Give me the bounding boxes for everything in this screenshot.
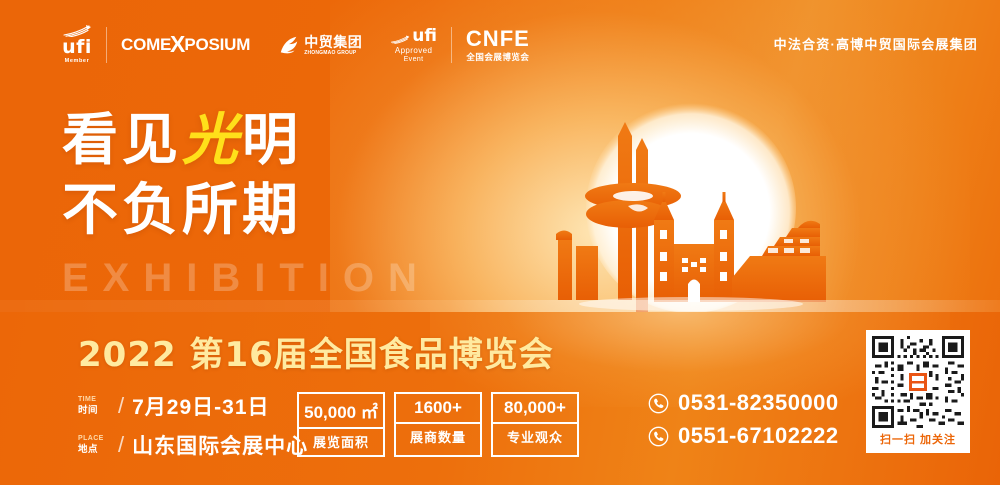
event-venue-value: 山东国际会展中心 (132, 430, 308, 460)
logo-ufi-approved: ufi Approved Event (376, 22, 451, 68)
comexposium-x-icon: X (170, 32, 185, 59)
partner-logo-strip: ufi Member COMEXPOSIUM 中贸集团 ZHONGMAO GRO… (48, 22, 544, 68)
info-row-place: PLACE 地点 / 山东国际会展中心 (78, 430, 308, 460)
qr-code-icon (872, 336, 964, 428)
cnfe-cn-name: 全国会展博览会 (466, 53, 529, 62)
time-separator: / (118, 393, 124, 419)
stat-exhibitors-label: 展商数量 (396, 422, 480, 450)
stat-area-label: 展览面积 (299, 427, 383, 455)
phone-icon (648, 426, 669, 447)
headline-accent-char: 光 (182, 108, 242, 173)
event-date-value: 7月29日-31日 (132, 391, 269, 421)
stat-exhibitors-value: 1600+ (414, 394, 462, 422)
stat-visitors-label: 专业观众 (493, 422, 577, 450)
stat-area-value: 50,000 ㎡ (304, 394, 378, 427)
logo-zhongmao-group: 中贸集团 ZHONGMAO GROUP (264, 22, 376, 68)
organizer-name: 中法合资·高博中贸国际会展集团 (774, 34, 978, 53)
qr-caption: 扫一扫 加关注 (872, 428, 964, 449)
hero-headline: 看见光明 不负所期 (62, 112, 302, 239)
logo-comexposium: COMEXPOSIUM (107, 22, 264, 68)
stat-visitors-value: 80,000+ (504, 394, 566, 422)
headline-line1-post: 明 (242, 108, 302, 173)
ufi-approved-sub2: Event (404, 56, 424, 63)
ufi-approved-swoosh-icon (390, 34, 410, 45)
logo-cnfe: CNFE 全国会展博览会 (452, 22, 544, 68)
comexposium-part1: COME (121, 35, 171, 55)
place-separator: / (118, 432, 124, 458)
headline-line1-pre: 看见 (62, 108, 182, 173)
ufi-approved-wordmark: ufi (412, 28, 437, 45)
time-label-en: TIME (78, 396, 110, 403)
qr-code-panel[interactable]: 扫一扫 加关注 (866, 330, 970, 453)
place-label-en: PLACE (78, 435, 110, 442)
logo-ufi-member: ufi Member (48, 22, 106, 68)
zhongmao-mark-icon (278, 34, 300, 56)
info-row-time: TIME 时间 / 7月29日-31日 (78, 391, 308, 421)
place-label-cn: 地点 (78, 445, 110, 455)
zhongmao-cn-name: 中贸集团 (304, 35, 362, 49)
ufi-member-wordmark: ufi (62, 38, 92, 57)
stat-box-exhibitors: 1600+ 展商数量 (394, 392, 482, 457)
comexposium-part2: POSIUM (184, 35, 250, 55)
ufi-member-subtext: Member (65, 59, 90, 65)
ufi-approved-sub1: Approved (395, 47, 432, 55)
contact-phone-group: 0531-82350000 0551-67102222 (648, 390, 839, 449)
phone-number-1: 0531-82350000 (678, 390, 839, 416)
event-title: 2022 第16届全国食品博览会 (78, 327, 554, 376)
zhongmao-en-name: ZHONGMAO GROUP (304, 51, 362, 56)
stat-box-area: 50,000 ㎡ 展览面积 (297, 392, 385, 457)
headline-line-2: 不负所期 (62, 182, 302, 240)
event-info-block: TIME 时间 / 7月29日-31日 PLACE 地点 / 山东国际会展中心 (78, 391, 308, 460)
exhibition-banner: ufi Member COMEXPOSIUM 中贸集团 ZHONGMAO GRO… (0, 0, 1000, 485)
phone-number-2: 0551-67102222 (678, 423, 839, 449)
statistics-group: 50,000 ㎡ 展览面积 1600+ 展商数量 80,000+ 专业观众 (297, 392, 579, 457)
cnfe-wordmark: CNFE (466, 28, 530, 50)
phone-row-1[interactable]: 0531-82350000 (648, 390, 839, 416)
city-skyline-artwork (536, 96, 846, 312)
time-label-cn: 时间 (78, 406, 110, 416)
phone-row-2[interactable]: 0551-67102222 (648, 423, 839, 449)
phone-icon (648, 393, 669, 414)
exhibition-watermark: EXHIBITION (62, 256, 431, 301)
headline-line-1: 看见光明 (62, 112, 302, 170)
stat-box-visitors: 80,000+ 专业观众 (491, 392, 579, 457)
